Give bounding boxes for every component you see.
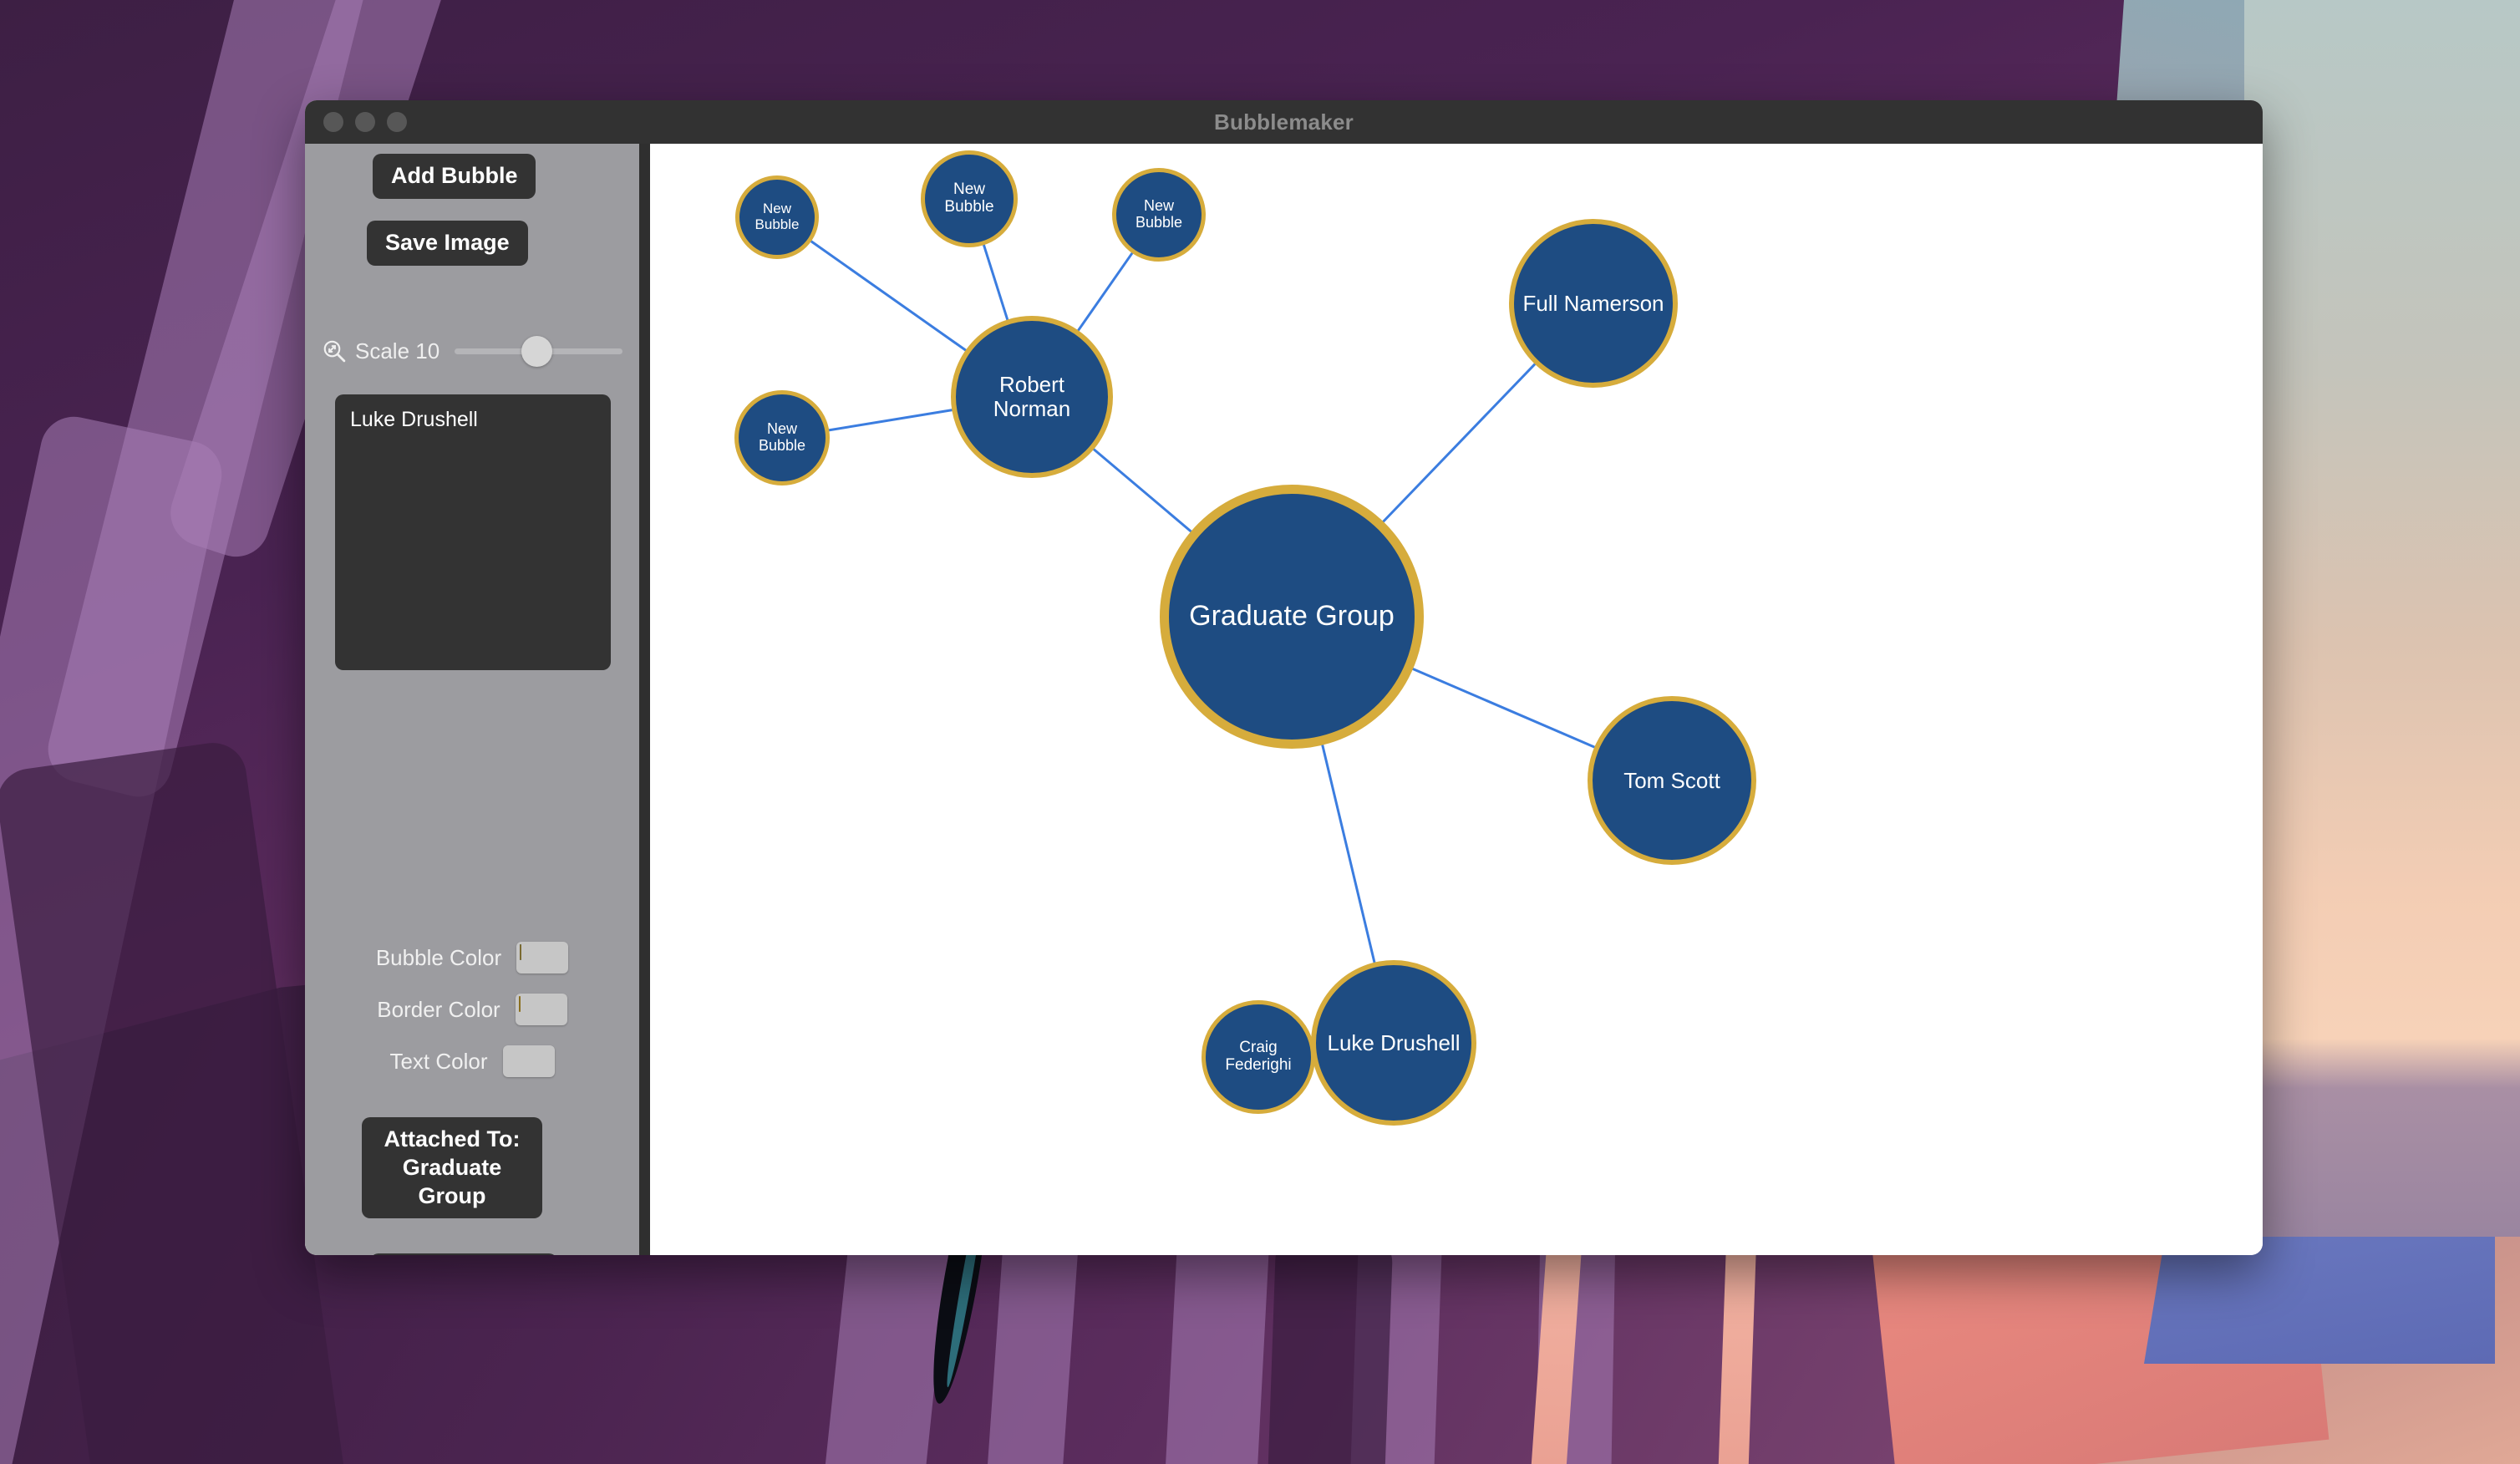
bubble-label: Luke Drushell [1328,1031,1461,1055]
bubble-b10[interactable]: Craig Federighi [1202,1000,1315,1114]
bubble-label: Graduate Group [1189,601,1395,632]
bubble-edge [983,243,1008,321]
window-title: Bubblemaker [1214,109,1354,135]
bubble-b7[interactable]: Graduate Group [1160,485,1424,749]
bubble-b9[interactable]: Luke Drushell [1311,960,1476,1126]
save-image-button[interactable]: Save Image [367,221,528,266]
bubble-edge [1322,744,1374,964]
bubble-b6[interactable]: Full Namerson [1509,219,1678,388]
bubble-label: New Bubble [928,181,1010,216]
bubble-edge [810,241,967,352]
bubble-label: Robert Norman [959,373,1105,420]
bubble-b3[interactable]: New Bubble [1112,168,1206,262]
close-button-icon[interactable] [323,112,343,132]
wallpaper-shape-sky [2244,0,2520,1237]
bubble-name-input[interactable] [335,394,611,670]
bubble-b2[interactable]: New Bubble [921,150,1018,247]
bubble-edge [1382,363,1536,522]
attached-to-button[interactable]: Attached To: Graduate Group [362,1117,542,1218]
bubble-b1[interactable]: New Bubble [735,175,819,259]
bubble-color-row: Bubble Color [305,942,639,973]
bubble-label: Full Namerson [1522,292,1664,316]
bubble-color-value [520,944,521,960]
bubble-b4[interactable]: Robert Norman [951,316,1113,478]
sidebar-canvas-divider [639,144,650,1255]
bubble-edge [827,409,953,430]
bubble-label: New Bubble [743,201,811,232]
bubble-b5[interactable]: New Bubble [734,390,830,485]
window-titlebar[interactable]: Bubblemaker [305,100,2263,144]
minimize-button-icon[interactable] [355,112,375,132]
scale-control-row: Scale 10 [322,334,622,368]
scale-slider-thumb[interactable] [521,336,552,367]
border-color-value [519,996,521,1012]
scale-label: Scale 10 [355,338,439,364]
bubble-b8[interactable]: Tom Scott [1588,696,1756,865]
bubble-color-label: Bubble Color [376,945,501,971]
bubble-label: New Bubble [742,421,822,455]
border-color-row: Border Color [305,994,639,1025]
text-color-label: Text Color [389,1049,487,1075]
bubble-edge [1077,252,1133,332]
add-bubble-button[interactable]: Add Bubble [373,154,536,199]
scale-slider[interactable] [455,338,622,363]
border-color-label: Border Color [377,997,500,1023]
traffic-light-group [323,100,407,144]
attached-to-target: Graduate Group [403,1155,502,1208]
bubble-label: New Bubble [1120,198,1198,231]
bubble-canvas[interactable]: New BubbleNew BubbleNew BubbleRobert Nor… [650,144,2263,1255]
magnifier-resize-icon [322,338,347,363]
delete-bubble-button[interactable]: Delete Bubble [370,1253,557,1255]
app-window: Bubblemaker Add Bubble Save Image Scale … [305,100,2263,1255]
bubble-edge [1411,668,1596,748]
bubble-label: Craig Federighi [1209,1040,1308,1075]
bubble-edge [1093,448,1192,532]
text-color-swatch[interactable] [503,1045,555,1077]
text-color-row: Text Color [305,1045,639,1077]
maximize-button-icon[interactable] [387,112,407,132]
border-color-swatch[interactable] [516,994,567,1025]
wallpaper-stripe [1263,1227,1393,1464]
bubble-color-swatch[interactable] [516,942,568,973]
sidebar: Add Bubble Save Image Scale 10 [305,144,639,1255]
attached-to-title: Attached To: [384,1126,521,1151]
bubble-label: Tom Scott [1623,769,1720,793]
